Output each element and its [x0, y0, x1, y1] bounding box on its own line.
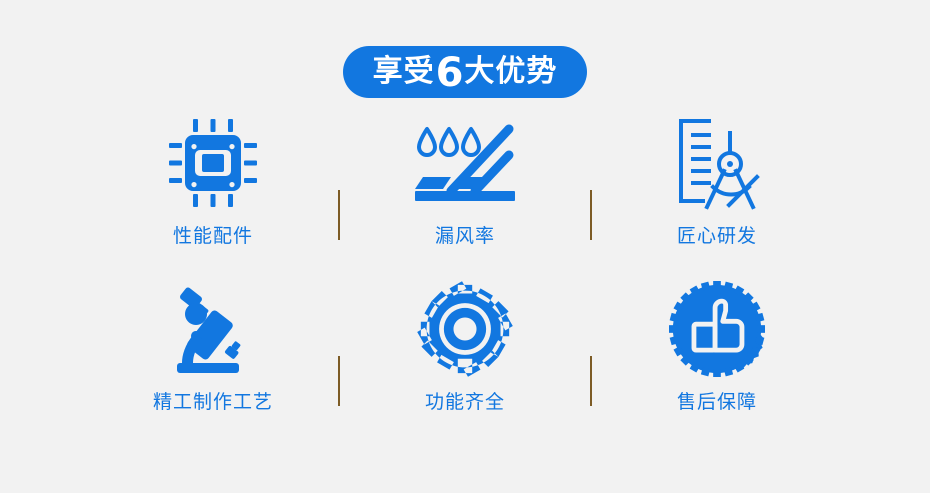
feature-label: 漏风率 [435, 227, 495, 246]
feature-label: 精工制作工艺 [153, 393, 273, 412]
feature-label: 性能配件 [173, 227, 253, 246]
feature-label: 匠心研发 [677, 227, 757, 246]
header-number-text: 6 [435, 53, 465, 93]
feature-cell-performance-parts: 性能配件 [88, 112, 338, 246]
feature-cell-leakage-rate: 漏风率 [340, 112, 590, 246]
header-pill: 享受 6 大优势 [343, 46, 588, 98]
feature-row-2: 精工制作工艺 功能齐全 [0, 278, 930, 444]
promo-banner: 享受 6 大优势 [0, 0, 930, 493]
feature-cell-craftsmanship: 精工制作工艺 [88, 278, 338, 412]
feature-cell-rnd: 匠心研发 [592, 112, 842, 246]
water-droplets-deflection-icon [413, 112, 517, 214]
header-section: 享受 6 大优势 [0, 46, 930, 98]
feature-label: 功能齐全 [425, 393, 505, 412]
header-suffix-text: 大优势 [464, 57, 557, 87]
ruler-compass-icon [667, 112, 767, 214]
feature-grid: 性能配件 [0, 112, 930, 444]
header-prefix-text: 享受 [373, 57, 435, 87]
feature-cell-full-function: 功能齐全 [340, 278, 590, 412]
feature-label: 售后保障 [677, 393, 757, 412]
feature-row-1: 性能配件 [0, 112, 930, 278]
thumbs-up-badge-icon [669, 278, 765, 380]
feature-cell-after-sales: 售后保障 [592, 278, 842, 412]
cpu-chip-icon [163, 112, 263, 214]
gear-icon [417, 278, 513, 380]
microscope-icon [163, 278, 263, 380]
